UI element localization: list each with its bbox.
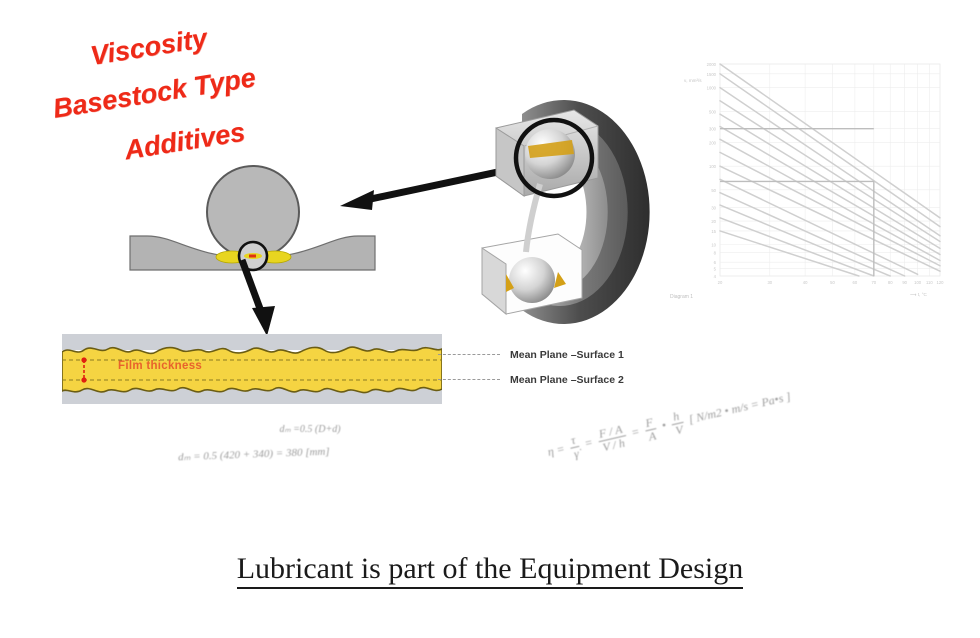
legend-dash-icon xyxy=(438,379,500,380)
legend-label-surface-2: Mean Plane –Surface 2 xyxy=(510,374,624,386)
chart-ytick-label: 4 xyxy=(714,274,717,279)
chart-ytick-label: 200 xyxy=(709,141,717,146)
film-thickness-arrow-top xyxy=(81,357,86,362)
frac-tau-gamma: τγ̇ xyxy=(568,433,582,460)
legend-item-surface-1: Mean Plane –Surface 1 xyxy=(438,344,668,365)
chart-xtick-label: 40 xyxy=(803,280,808,285)
lubricant-property-keywords: Viscosity Basestock Type Additives xyxy=(52,28,372,178)
page-title-text: Lubricant is part of the Equipment Desig… xyxy=(237,552,744,589)
chart-xtick-label: 50 xyxy=(830,280,835,285)
mean-diameter-formula-block: dₘ =0.5 (D+d) dₘ = 0.5 (420 + 340) = 380… xyxy=(178,424,408,459)
chart-ytick-label: 30 xyxy=(711,205,716,210)
slide-canvas: Viscosity Basestock Type Additives xyxy=(0,0,980,638)
chart-xtick-label: 30 xyxy=(767,280,772,285)
mean-diameter-formula-symbolic: dₘ =0.5 (D+d) xyxy=(178,424,408,435)
chart-xtick-label: 100 xyxy=(914,280,922,285)
chart-xtick-label: 70 xyxy=(871,280,876,285)
upper-surface-body xyxy=(62,334,442,350)
callout-arrow-to-film xyxy=(235,258,305,340)
viscosity-temperature-diagram: 4568101520305010020030050010001500200020… xyxy=(668,52,950,304)
chart-ytick-label: 100 xyxy=(709,164,717,169)
chart-xtick-label: 60 xyxy=(853,280,858,285)
frac-f-a-over-v-h: F / AV / h xyxy=(596,422,629,454)
viscosity-units-text: [ N/m2 • m/s = Pa•s ] xyxy=(687,389,792,426)
keyword-viscosity: Viscosity xyxy=(88,23,209,72)
chart-xtick-label: 20 xyxy=(718,280,723,285)
keyword-basestock-type: Basestock Type xyxy=(51,62,258,125)
viscosity-chart-svg: 4568101520305010020030050010001500200020… xyxy=(668,52,950,304)
chart-ytick-label: 2000 xyxy=(707,62,717,67)
chart-ytick-label: 8 xyxy=(714,250,717,255)
chart-ytick-label: 50 xyxy=(711,188,716,193)
page-title: Lubricant is part of the Equipment Desig… xyxy=(0,552,980,586)
chart-ylabel: ν, mm²/s xyxy=(684,78,702,83)
chart-ytick-label: 10 xyxy=(711,243,716,248)
frac-h-over-v: hV xyxy=(669,409,686,437)
chart-xtick-label: 120 xyxy=(937,280,945,285)
chart-ytick-label: 1000 xyxy=(707,86,717,91)
mean-diameter-formula-numeric: dₘ = 0.5 (420 + 340) = 380 [mm] xyxy=(178,442,408,464)
film-thickness-arrow-bottom xyxy=(81,377,86,382)
legend-dash-icon xyxy=(438,354,500,355)
legend-label-surface-1: Mean Plane –Surface 1 xyxy=(510,349,624,361)
chart-ytick-label: 300 xyxy=(709,127,717,132)
bearing-ball-lower xyxy=(509,257,555,303)
chart-ytick-label: 6 xyxy=(714,260,717,265)
chart-xlabel: ⟶ t, °C xyxy=(910,292,928,297)
chart-ytick-label: 5 xyxy=(714,266,717,271)
chart-xtick-label: 90 xyxy=(902,280,907,285)
film-thickness-label: Film thickness xyxy=(118,360,202,372)
chart-xtick-label: 110 xyxy=(926,280,933,285)
chart-ytick-label: 15 xyxy=(711,229,716,234)
legend-item-surface-2: Mean Plane –Surface 2 xyxy=(438,369,668,390)
dynamic-viscosity-formula: η = τγ̇ = F / AV / h = FA • hV [ N/m2 • … xyxy=(545,384,794,466)
chart-xtick-label: 80 xyxy=(888,280,893,285)
frac-f-over-a: FA xyxy=(642,415,659,443)
chart-ytick-label: 1500 xyxy=(707,72,717,77)
chart-ytick-label: 500 xyxy=(709,109,717,114)
eta-symbol: η = xyxy=(546,441,566,458)
bearing-cutaway-illustration xyxy=(462,92,662,332)
mean-plane-legend: Mean Plane –Surface 1 Mean Plane –Surfac… xyxy=(438,344,668,394)
chart-title: Diagram 1 xyxy=(670,294,693,300)
chart-ytick-label: 20 xyxy=(711,219,716,224)
